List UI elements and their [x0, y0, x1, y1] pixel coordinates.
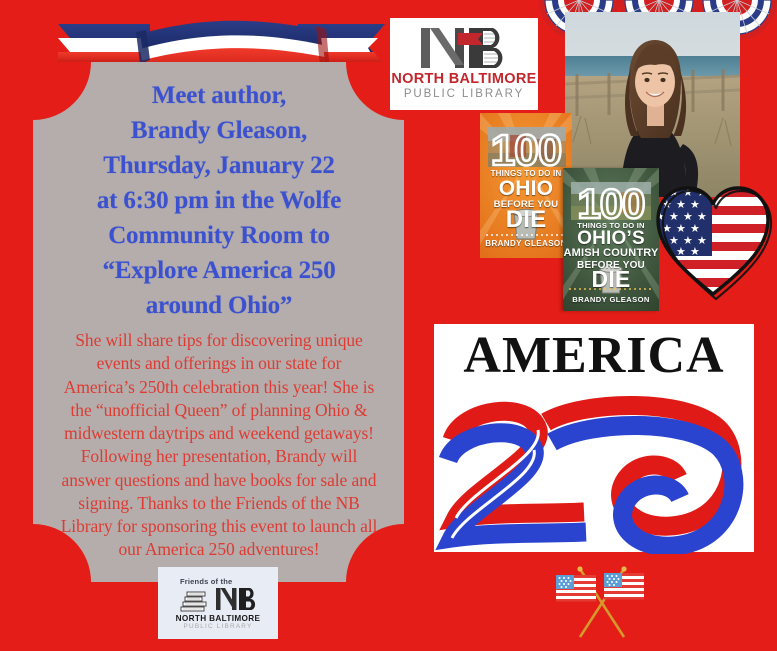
description-line: our America 250 adventures!	[48, 538, 390, 561]
america-250-numeral-icon	[434, 386, 754, 554]
book-author: BRANDY GLEASON	[563, 295, 659, 304]
library-logo-subtitle: PUBLIC LIBRARY	[404, 86, 524, 103]
america-250-wordmark: AMERICA	[434, 330, 754, 382]
headline-line: at 6:30 pm in the Wolfe	[48, 183, 390, 218]
book-subtitle-amish-country: AMISH COUNTRY	[563, 248, 659, 259]
book-line-die: DIE	[480, 208, 572, 232]
friends-of-nb-library-logo: Friends of the	[158, 567, 278, 639]
headline-line: Thursday, January 22	[48, 148, 390, 183]
book-line-die: DIE	[563, 268, 659, 291]
headline-line: Meet author,	[48, 78, 390, 113]
headline-line: Community Room to	[48, 218, 390, 253]
svg-text:★: ★	[655, 186, 665, 199]
event-poster: Meet author, Brandy Gleason, Thursday, J…	[0, 0, 777, 651]
headline-line: “Explore America 250	[48, 253, 390, 288]
north-baltimore-library-logo: NORTH BALTIMORE PUBLIC LIBRARY	[390, 18, 538, 110]
event-description: She will share tips for discovering uniq…	[48, 329, 390, 562]
library-logo-name: NORTH BALTIMORE	[391, 72, 536, 87]
description-line: signing. Thanks to the Friends of the NB	[48, 492, 390, 515]
svg-text:★: ★	[690, 245, 700, 258]
description-line: Library for sponsoring this event to lau…	[48, 515, 390, 538]
america-250-logo: AMERICA	[429, 319, 759, 557]
description-line: America’s 250th celebration this year! S…	[48, 376, 390, 399]
stacked-books-icon	[178, 585, 212, 613]
book-title-ohio: OHIO	[480, 178, 572, 199]
nb-monogram-icon	[214, 586, 258, 612]
description-line: midwestern daytrips and weekend getaways…	[48, 422, 390, 445]
description-line: events and offerings in our state for	[48, 352, 390, 375]
american-flag-heart-icon: ★★★★ ★★★ ★★★★ ★★★ ★★★★ ★★★	[650, 168, 777, 303]
book-cover-ohio: 100 THINGS TO DO IN OHIO BEFORE YOU DIE …	[480, 113, 572, 258]
panel-content: Meet author, Brandy Gleason, Thursday, J…	[40, 78, 398, 578]
headline-line: around Ohio”	[48, 288, 390, 323]
svg-text:100: 100	[577, 180, 644, 227]
crossed-american-flags-icon	[552, 563, 652, 641]
event-headline: Meet author, Brandy Gleason, Thursday, J…	[48, 78, 390, 323]
svg-text:100: 100	[491, 126, 561, 175]
book-author: BRANDY GLEASON	[480, 239, 572, 248]
friends-logo-subtitle: PUBLIC LIBRARY	[184, 623, 253, 630]
book-cover-ohio-amish-country: 100 THINGS TO DO IN OHIO’S AMISH COUNTRY…	[563, 168, 659, 311]
description-line: She will share tips for discovering uniq…	[48, 329, 390, 352]
description-line: the “unofficial Queen” of planning Ohio …	[48, 399, 390, 422]
description-line: Following her presentation, Brandy will	[48, 445, 390, 468]
svg-text:★: ★	[676, 245, 686, 258]
headline-line: Brandy Gleason,	[48, 113, 390, 148]
book-title-ohios: OHIO’S	[563, 229, 659, 248]
description-line: answer questions and have books for sale…	[48, 469, 390, 492]
nb-monogram-icon	[417, 25, 512, 71]
friends-logo-name: NORTH BALTIMORE	[176, 614, 261, 623]
